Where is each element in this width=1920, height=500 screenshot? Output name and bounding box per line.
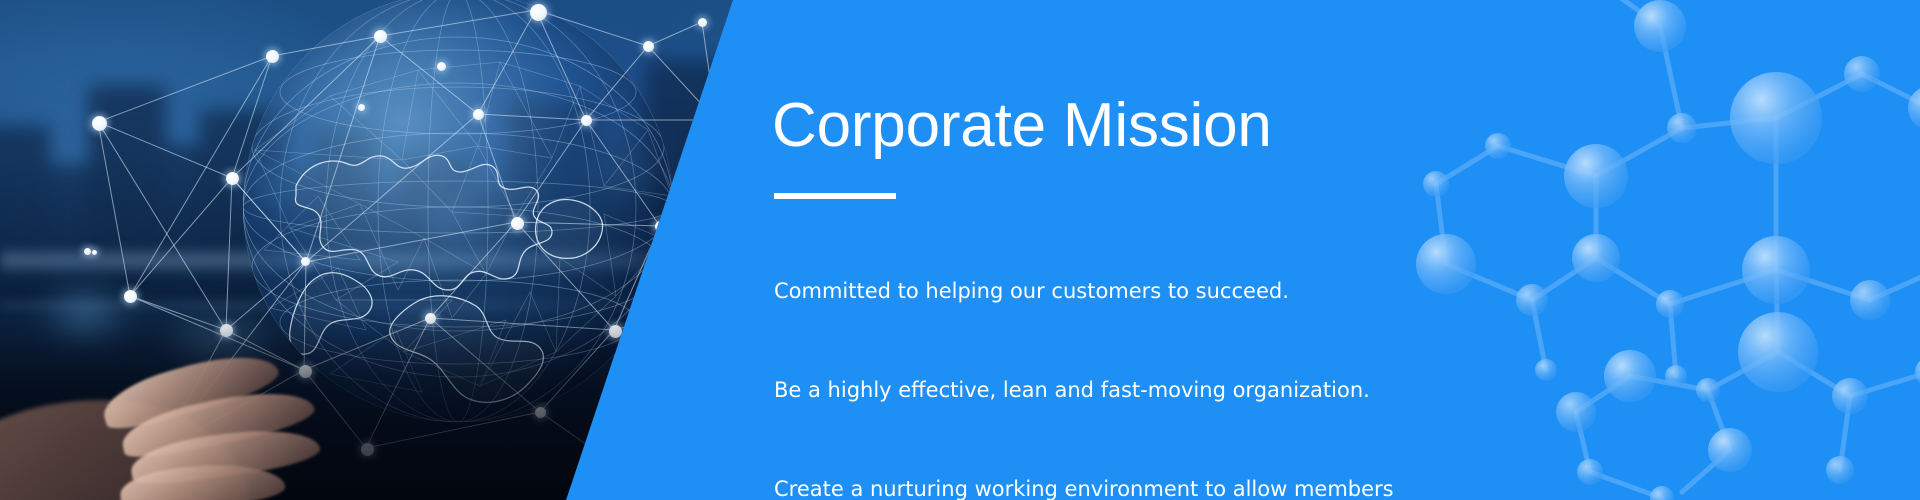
mission-line: Committed to helping our customers to su… [774,275,1474,308]
corporate-mission-banner: Corporate Mission Committed to helping o… [0,0,1920,500]
title-underline-rule [774,193,896,199]
banner-content: Corporate Mission Committed to helping o… [772,0,1772,500]
banner-photo [0,0,760,500]
mission-line: Be a highly effective, lean and fast-mov… [774,374,1474,407]
mission-line: Create a nurturing working environment t… [774,473,1474,500]
mission-statement: Committed to helping our customers to su… [774,209,1474,500]
hand-photo [0,300,390,500]
page-title: Corporate Mission [772,93,1272,158]
